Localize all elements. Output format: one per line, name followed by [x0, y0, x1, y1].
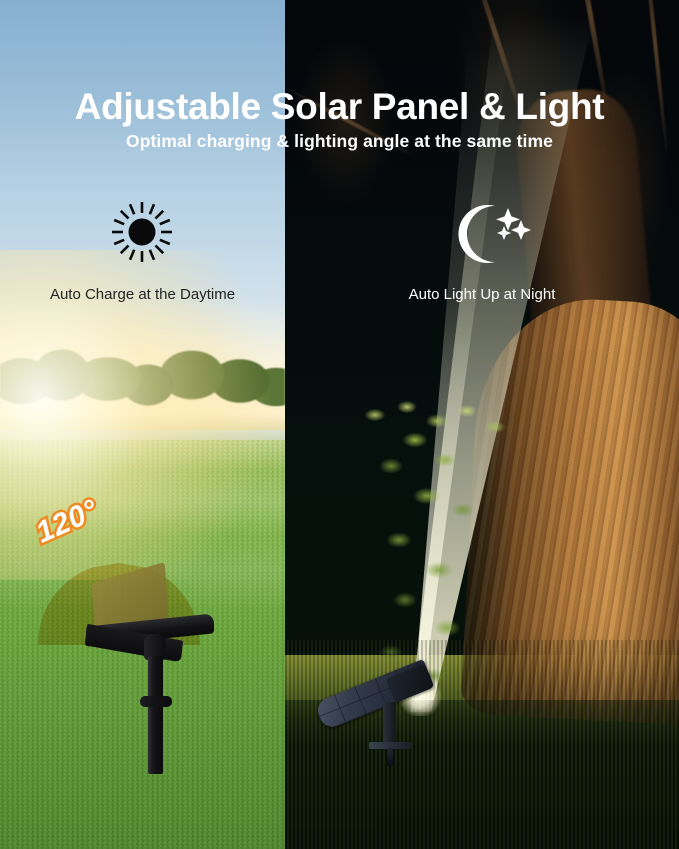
day-caption: Auto Charge at the Daytime: [0, 286, 285, 303]
day-fixture-collar: [140, 696, 172, 707]
page-title: Adjustable Solar Panel & Light: [0, 88, 679, 127]
moon-stars-icon: [455, 200, 533, 268]
night-fixture-lamp-body: [386, 663, 435, 703]
sun-icon: [110, 200, 174, 264]
night-caption: Auto Light Up at Night: [285, 286, 679, 303]
night-fixture-ground-spike: [387, 748, 393, 766]
day-scene-panel: 120°: [0, 0, 285, 849]
night-scene-panel: [285, 0, 679, 849]
night-fixture-stem: [383, 702, 396, 746]
day-fixture-post: [148, 656, 163, 774]
page-subtitle: Optimal charging & lighting angle at the…: [0, 131, 679, 152]
star-medium-icon: [511, 220, 531, 240]
night-solar-light-fixture: [315, 662, 465, 772]
night-leaf-cluster-top: [345, 395, 545, 465]
product-feature-banner: 120°: [0, 0, 679, 849]
star-large-icon: [496, 208, 520, 231]
day-solar-light-fixture: [70, 610, 230, 780]
